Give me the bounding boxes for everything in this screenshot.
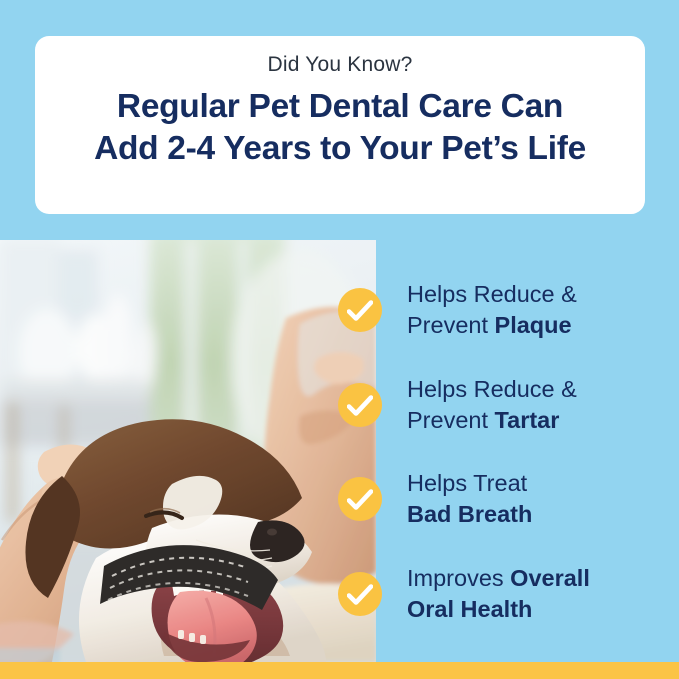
list-item: Improves Overall Oral Health [338,563,679,658]
benefit-line-1-normal: Improves [407,565,510,591]
bottom-accent-bar [0,662,679,679]
benefit-line-1: Improves Overall [407,563,677,594]
benefit-text: Helps Reduce & Prevent Plaque [407,279,677,341]
dog-photo [0,240,376,662]
benefit-line-2-normal: Prevent [407,312,495,338]
check-circle-icon [338,572,382,616]
benefit-line-2-bold: Tartar [495,407,560,433]
headline-line-1: Regular Pet Dental Care Can [35,86,645,128]
benefit-text: Helps Reduce & Prevent Tartar [407,374,677,436]
benefit-line-1-bold: Overall [510,565,590,591]
pet-dental-care-infographic: Did You Know? Regular Pet Dental Care Ca… [0,0,679,679]
list-item: Helps Reduce & Prevent Tartar [338,374,679,469]
benefit-text: Helps Treat Bad Breath [407,468,677,530]
benefit-line-2: Bad Breath [407,499,677,530]
benefit-line-2-normal: Prevent [407,407,495,433]
page-title: Regular Pet Dental Care Can Add 2-4 Year… [35,86,645,170]
benefit-line-2-bold: Oral Health [407,596,532,622]
list-item: Helps Treat Bad Breath [338,468,679,563]
headline-line-2: Add 2-4 Years to Your Pet’s Life [35,128,645,170]
benefit-line-2: Prevent Plaque [407,310,677,341]
benefits-list: Helps Reduce & Prevent Plaque Helps Redu… [338,279,679,657]
benefit-line-2-bold: Bad Breath [407,501,532,527]
header-card: Did You Know? Regular Pet Dental Care Ca… [35,36,645,214]
check-circle-icon [338,477,382,521]
benefit-line-1: Helps Reduce & [407,279,677,310]
benefit-text: Improves Overall Oral Health [407,563,677,625]
check-circle-icon [338,383,382,427]
check-circle-icon [338,288,382,332]
benefit-line-1: Helps Treat [407,468,677,499]
benefit-line-2: Prevent Tartar [407,405,677,436]
eyebrow-text: Did You Know? [35,50,645,80]
benefit-line-1: Helps Reduce & [407,374,677,405]
benefit-line-2-bold: Plaque [495,312,572,338]
list-item: Helps Reduce & Prevent Plaque [338,279,679,374]
benefit-line-2: Oral Health [407,594,677,625]
